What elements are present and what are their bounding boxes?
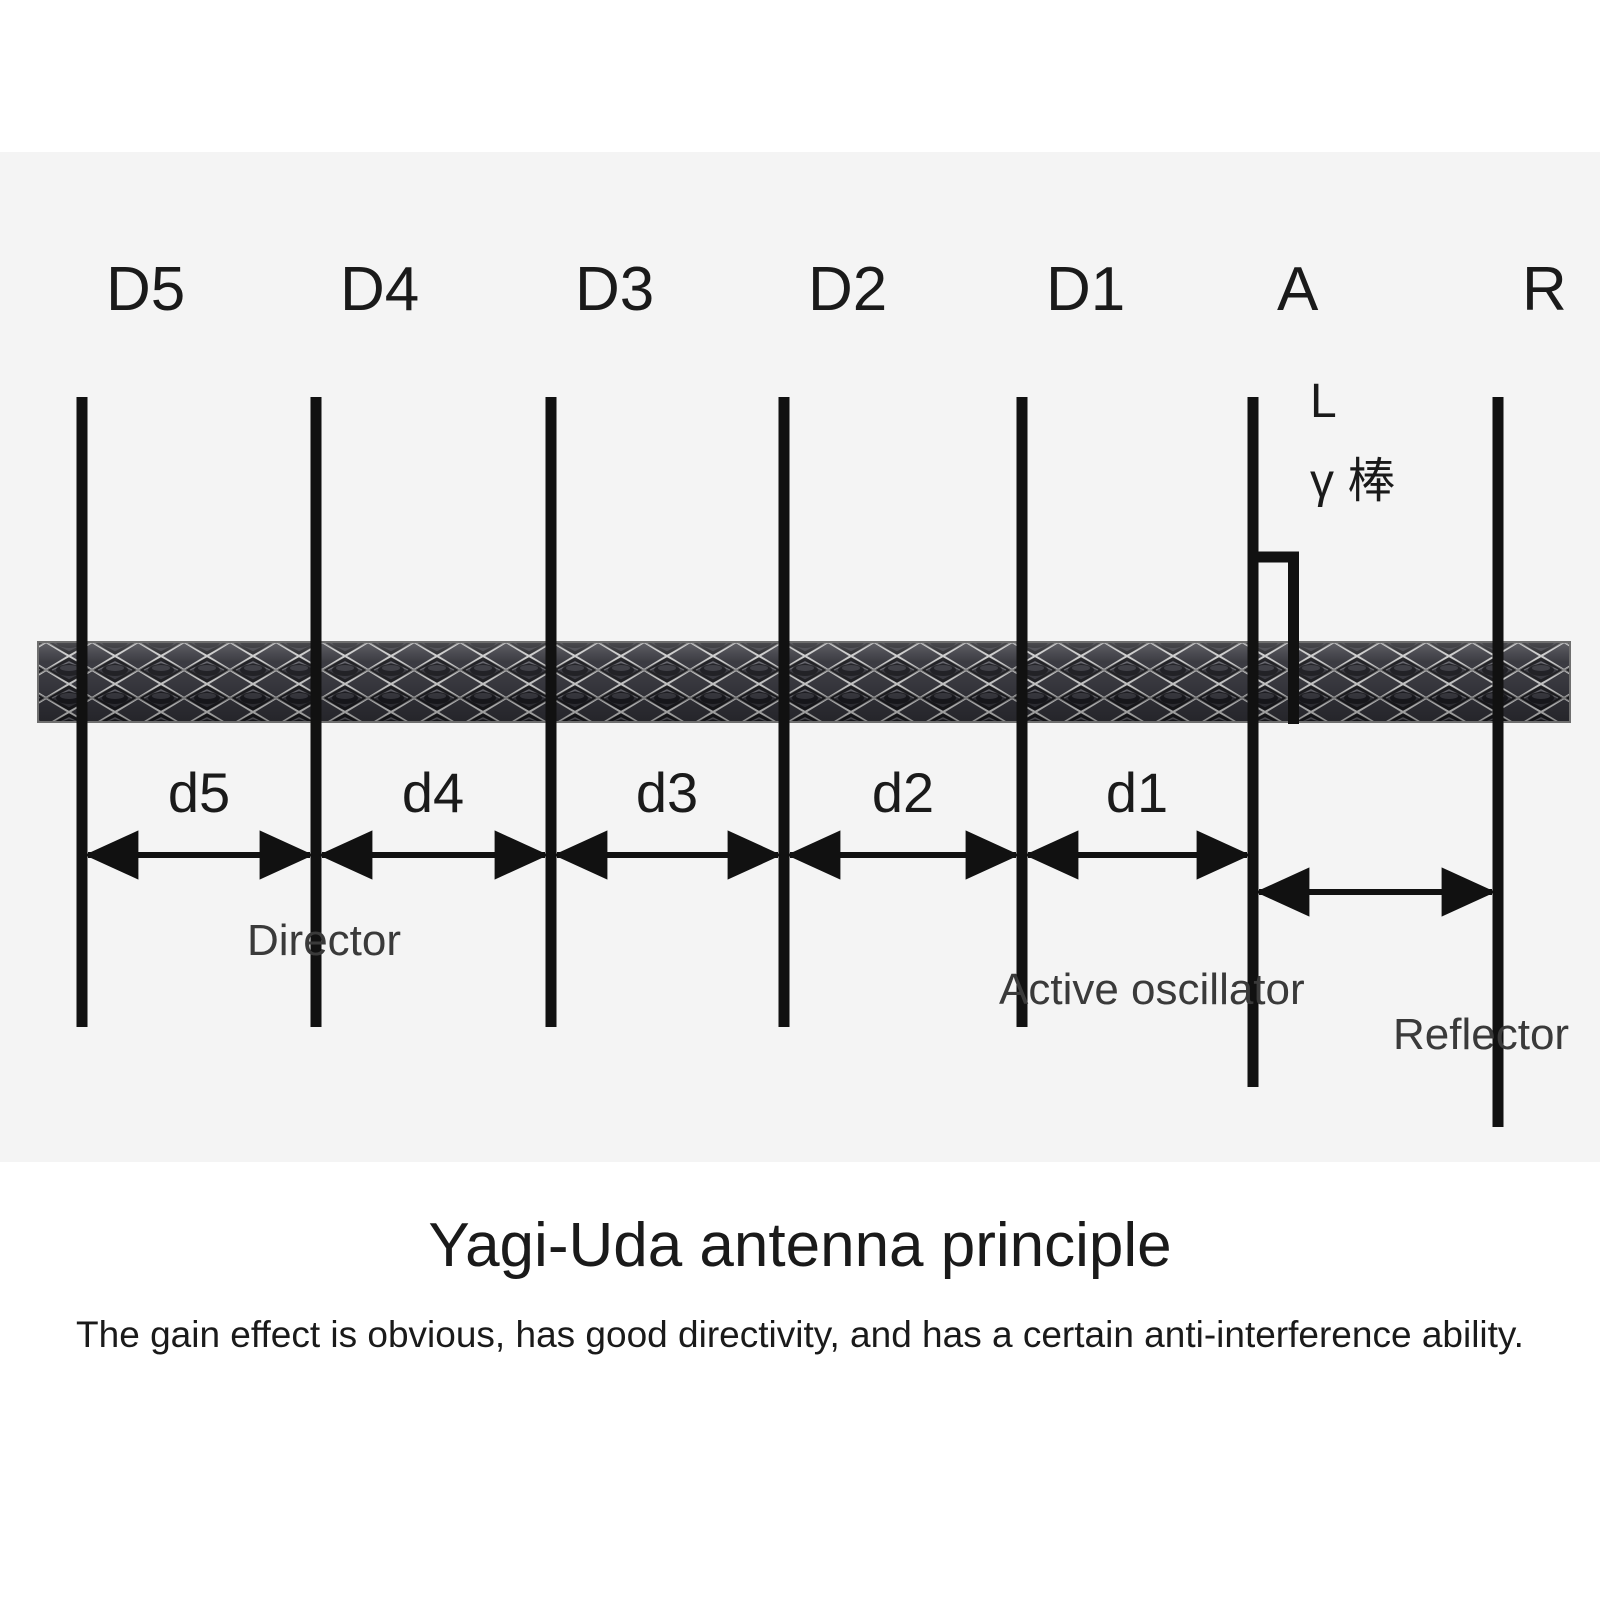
element-label-D5: D5 <box>106 255 185 324</box>
spacing-label-d1: d1 <box>1106 761 1168 824</box>
figure-title: Yagi-Uda antenna principle <box>0 1210 1600 1281</box>
spacing-label-d2: d2 <box>872 761 934 824</box>
gamma-rod <box>1288 552 1299 652</box>
element-label-D1: D1 <box>1046 255 1125 324</box>
caption-block: Yagi-Uda antenna principle The gain effe… <box>0 1162 1600 1600</box>
part-label-active-oscillator: Active oscillator <box>999 965 1305 1014</box>
gamma-match <box>1253 552 1299 652</box>
part-label-reflector: Reflector <box>1393 1010 1569 1059</box>
part-label-director: Director <box>247 916 401 965</box>
element-label-D2: D2 <box>808 255 887 324</box>
element-rods <box>77 397 1504 1127</box>
gamma-match-labels: L γ 棒 <box>1310 375 1395 508</box>
gamma-rod-label: γ 棒 <box>1310 455 1395 508</box>
spacing-label-d4: d4 <box>402 761 464 824</box>
dimension-arrows <box>88 855 1492 892</box>
figure-subtitle: The gain effect is obvious, has good dir… <box>0 1314 1600 1356</box>
spacing-label-d5: d5 <box>168 761 230 824</box>
element-label-R: R <box>1522 255 1567 324</box>
gamma-length-label: L <box>1310 375 1337 428</box>
part-labels: Director Active oscillator Reflector <box>247 916 1569 1059</box>
figure-root: D5 D4 D3 D2 D1 A R L γ 棒 d5 d4 d3 d2 d1 <box>0 0 1600 1600</box>
element-label-D4: D4 <box>340 255 419 324</box>
element-labels: D5 D4 D3 D2 D1 A R <box>106 255 1567 324</box>
boom-mast <box>38 642 1570 722</box>
spacing-label-d3: d3 <box>636 761 698 824</box>
element-label-D3: D3 <box>575 255 654 324</box>
element-label-A: A <box>1277 255 1319 324</box>
antenna-diagram: D5 D4 D3 D2 D1 A R L γ 棒 d5 d4 d3 d2 d1 <box>0 152 1600 1162</box>
diagram-panel: D5 D4 D3 D2 D1 A R L γ 棒 d5 d4 d3 d2 d1 <box>0 152 1600 1162</box>
